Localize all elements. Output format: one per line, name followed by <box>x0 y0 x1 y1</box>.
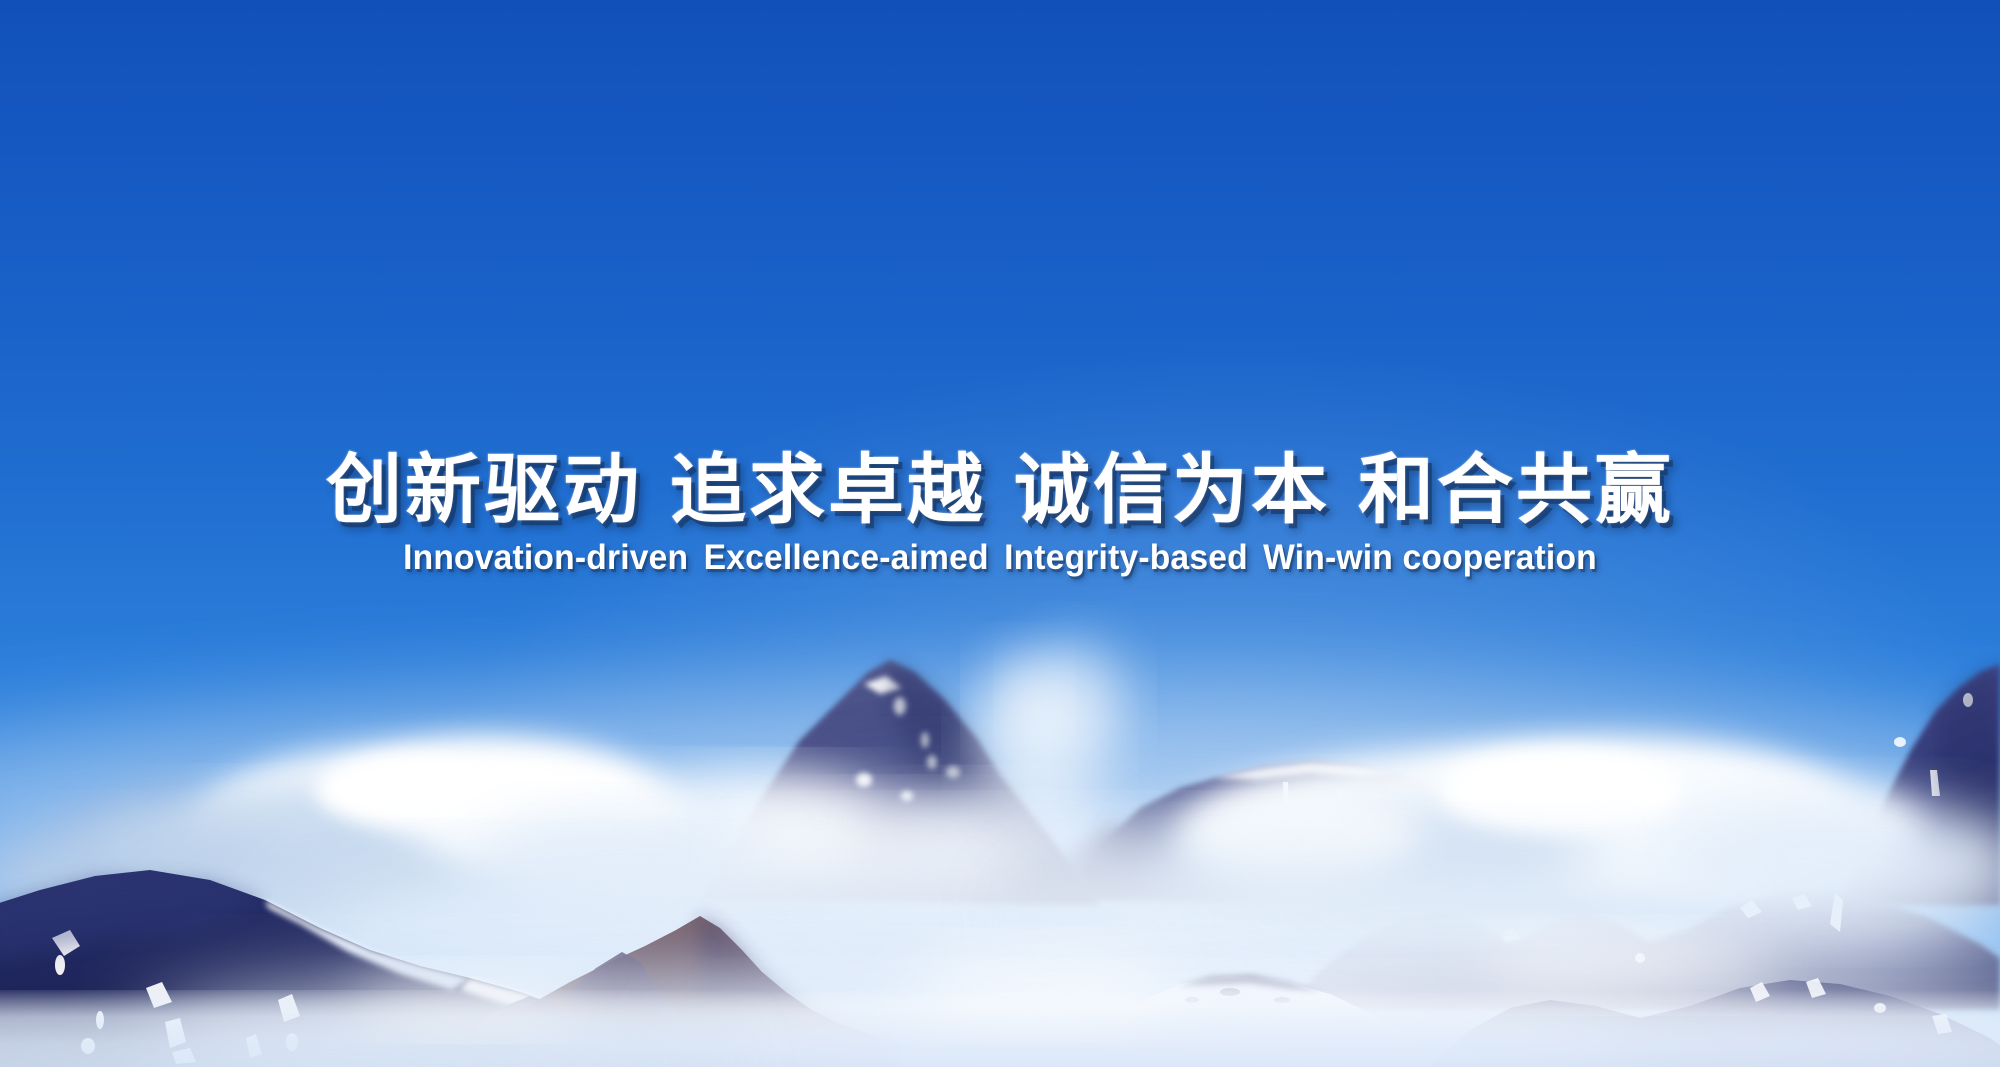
hero-banner: 创新驱动追求卓越诚信为本和合共赢 Innovation-drivenExcell… <box>0 0 2000 1067</box>
slogan-en-phrase-1: Innovation-driven <box>403 538 688 577</box>
slogan-english: Innovation-drivenExcellence-aimedIntegri… <box>40 540 1960 577</box>
slogan-en-phrase-2: Excellence-aimed <box>704 538 989 577</box>
slogan-en-phrase-3: Integrity-based <box>1004 538 1248 577</box>
slogan-cn-phrase-2: 追求卓越 <box>670 448 986 533</box>
slogan-cn-phrase-3: 诚信为本 <box>1014 448 1330 533</box>
slogan-en-phrase-4: Win-win cooperation <box>1263 538 1597 577</box>
slogan-text-block: 创新驱动追求卓越诚信为本和合共赢 Innovation-drivenExcell… <box>0 452 2000 576</box>
slogan-cn-phrase-4: 和合共赢 <box>1358 448 1674 533</box>
slogan-chinese: 创新驱动追求卓越诚信为本和合共赢 <box>0 452 2000 530</box>
slogan-cn-phrase-1: 创新驱动 <box>326 448 642 533</box>
